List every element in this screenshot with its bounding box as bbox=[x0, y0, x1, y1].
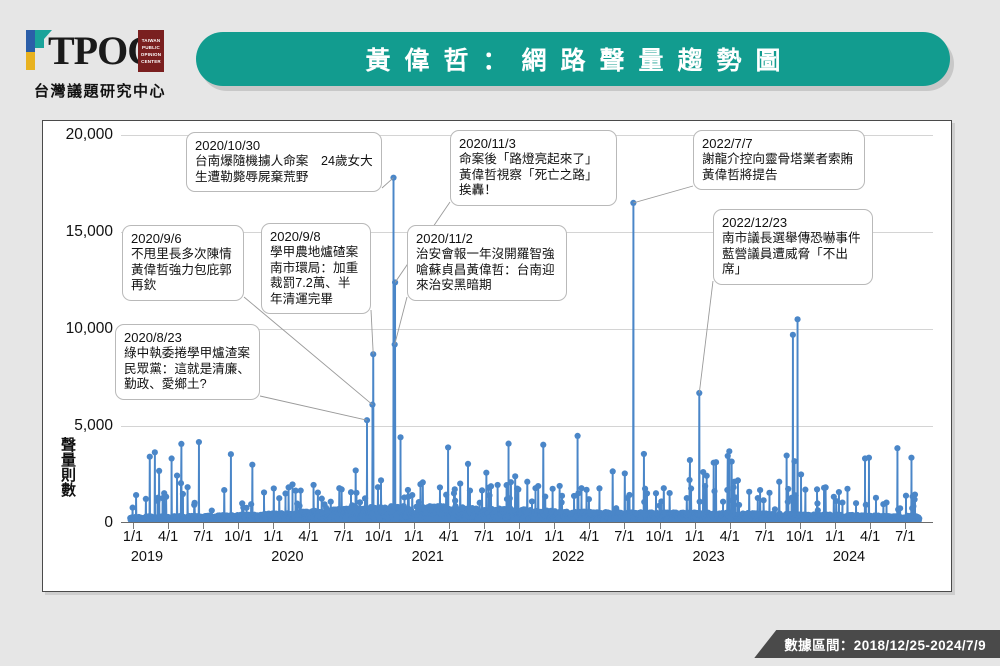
annotation-date: 2020/10/30 bbox=[195, 138, 373, 154]
annotation-text: 南市議長選舉傳恐嚇事件藍營議員遭威脅「不出席」 bbox=[722, 231, 864, 278]
logo-subtitle: 台灣議題研究中心 bbox=[34, 80, 166, 101]
x-axis-tick-label: 1/1 bbox=[263, 529, 283, 545]
x-axis-tick-label: 4/1 bbox=[439, 529, 459, 545]
x-axis-tick-label: 1/1 bbox=[123, 529, 143, 545]
x-axis-tick-label: 10/1 bbox=[365, 529, 393, 545]
annotation-callout[interactable]: 2020/9/8 學甲農地爐碴案南市環局：加重裁罰7.2萬、半年清運完畢 bbox=[261, 223, 371, 314]
x-axis-year-label: 2024 bbox=[833, 549, 865, 565]
x-axis-year-label: 2023 bbox=[692, 549, 724, 565]
page-title: 黃偉哲：網路聲量趨勢圖 bbox=[351, 41, 794, 77]
logo-badge: TAIWAN PUBLIC OPINION CENTER bbox=[138, 30, 164, 72]
x-axis-tick-label: 7/1 bbox=[334, 529, 354, 545]
y-axis-tick-label: 20,000 bbox=[66, 126, 113, 144]
annotation-date: 2020/8/23 bbox=[124, 330, 251, 346]
x-axis-year-label: 2020 bbox=[271, 549, 303, 565]
x-axis-tick-label: 7/1 bbox=[474, 529, 494, 545]
data-range-badge: 數據區間：2018/12/25-2024/7/9 bbox=[754, 630, 1000, 658]
x-axis-tick-label: 10/1 bbox=[224, 529, 252, 545]
y-axis-tick-label: 5,000 bbox=[74, 417, 113, 435]
annotation-text: 命案後「路燈亮起來了」 黃偉哲視察「死亡之路」挨轟！ bbox=[459, 152, 608, 199]
x-axis-tick-label: 7/1 bbox=[895, 529, 915, 545]
annotation-date: 2020/9/6 bbox=[131, 231, 235, 247]
y-axis-tick-label: 0 bbox=[104, 514, 113, 532]
x-axis-tick-label: 7/1 bbox=[614, 529, 634, 545]
y-axis-tick-label: 10,000 bbox=[66, 320, 113, 338]
annotation-date: 2020/11/2 bbox=[416, 231, 558, 247]
x-axis-tick-label: 1/1 bbox=[825, 529, 845, 545]
x-axis-tick-label: 4/1 bbox=[579, 529, 599, 545]
x-axis-tick-label: 10/1 bbox=[786, 529, 814, 545]
logo-badge-line-2: PUBLIC bbox=[142, 44, 160, 51]
y-axis-title: 聲量則數 bbox=[55, 437, 77, 497]
x-axis-labels: 1/14/17/110/11/14/17/110/11/14/17/110/11… bbox=[121, 529, 933, 581]
x-axis-tick-label: 4/1 bbox=[298, 529, 318, 545]
annotation-callout[interactable]: 2020/8/23 綠中執委捲學甲爐渣案民眾黨：這就是清廉、勤政、愛鄉土? bbox=[115, 324, 260, 400]
x-axis-tick-label: 7/1 bbox=[193, 529, 213, 545]
logo-badge-line-4: CENTER bbox=[141, 58, 161, 65]
x-axis-tick-label: 1/1 bbox=[404, 529, 424, 545]
annotation-text: 台南爆隨機擄人命案 24歲女大生遭勒斃辱屍棄荒野 bbox=[195, 154, 373, 185]
x-axis-line bbox=[121, 522, 933, 524]
annotation-callout[interactable]: 2020/9/6 不甩里長多次陳情黃偉哲強力包庇郭再欽 bbox=[122, 225, 244, 301]
logo-badge-line-1: TAIWAN bbox=[142, 37, 161, 44]
page-header: TPOC TAIWAN PUBLIC OPINION CENTER 台灣議題研究… bbox=[0, 0, 1000, 112]
x-axis-year-label: 2021 bbox=[412, 549, 444, 565]
annotation-date: 2020/11/3 bbox=[459, 136, 608, 152]
annotation-text: 學甲農地爐碴案南市環局：加重裁罰7.2萬、半年清運完畢 bbox=[270, 245, 362, 307]
title-banner: 黃偉哲：網路聲量趨勢圖 bbox=[196, 32, 950, 86]
x-axis-tick-label: 4/1 bbox=[720, 529, 740, 545]
annotation-callout[interactable]: 2020/11/2 治安會報一年沒開羅智強嗆蘇貞昌黃偉哲：台南迎來治安黑暗期 bbox=[407, 225, 567, 301]
chart-panel: 05,00010,00015,00020,000 聲量則數 1/14/17/11… bbox=[42, 120, 952, 592]
x-axis-tick-label: 10/1 bbox=[505, 529, 533, 545]
x-axis-year-label: 2019 bbox=[131, 549, 163, 565]
x-axis-tick-label: 7/1 bbox=[755, 529, 775, 545]
annotation-date: 2022/7/7 bbox=[702, 136, 856, 152]
logo-badge-line-3: OPINION bbox=[141, 51, 161, 58]
x-axis-tick-label: 1/1 bbox=[544, 529, 564, 545]
x-axis-tick-label: 1/1 bbox=[685, 529, 705, 545]
annotation-text: 治安會報一年沒開羅智強嗆蘇貞昌黃偉哲：台南迎來治安黑暗期 bbox=[416, 247, 558, 294]
data-range-text: 數據區間：2018/12/25-2024/7/9 bbox=[784, 634, 986, 654]
annotation-callout[interactable]: 2022/12/23 南市議長選舉傳恐嚇事件藍營議員遭威脅「不出席」 bbox=[713, 209, 873, 285]
x-axis-year-label: 2022 bbox=[552, 549, 584, 565]
tpoc-logo: TPOC TAIWAN PUBLIC OPINION CENTER 台灣議題研究… bbox=[18, 22, 168, 102]
x-axis-tick-label: 4/1 bbox=[860, 529, 880, 545]
annotation-text: 謝龍介控向靈骨塔業者索賄黃偉哲將提告 bbox=[702, 152, 856, 183]
y-axis-labels: 05,00010,00015,00020,000 bbox=[43, 135, 113, 523]
x-axis-tick-label: 10/1 bbox=[645, 529, 673, 545]
annotation-text: 綠中執委捲學甲爐渣案民眾黨：這就是清廉、勤政、愛鄉土? bbox=[124, 346, 251, 393]
y-axis-tick-label: 15,000 bbox=[66, 223, 113, 241]
annotation-callout[interactable]: 2022/7/7 謝龍介控向靈骨塔業者索賄黃偉哲將提告 bbox=[693, 130, 865, 190]
annotation-text: 不甩里長多次陳情黃偉哲強力包庇郭再欽 bbox=[131, 247, 235, 294]
annotation-date: 2020/9/8 bbox=[270, 229, 362, 245]
x-axis-tick-label: 4/1 bbox=[158, 529, 178, 545]
annotation-callout[interactable]: 2020/10/30 台南爆隨機擄人命案 24歲女大生遭勒斃辱屍棄荒野 bbox=[186, 132, 382, 192]
annotation-date: 2022/12/23 bbox=[722, 215, 864, 231]
annotation-callout[interactable]: 2020/11/3 命案後「路燈亮起來了」 黃偉哲視察「死亡之路」挨轟！ bbox=[450, 130, 617, 206]
